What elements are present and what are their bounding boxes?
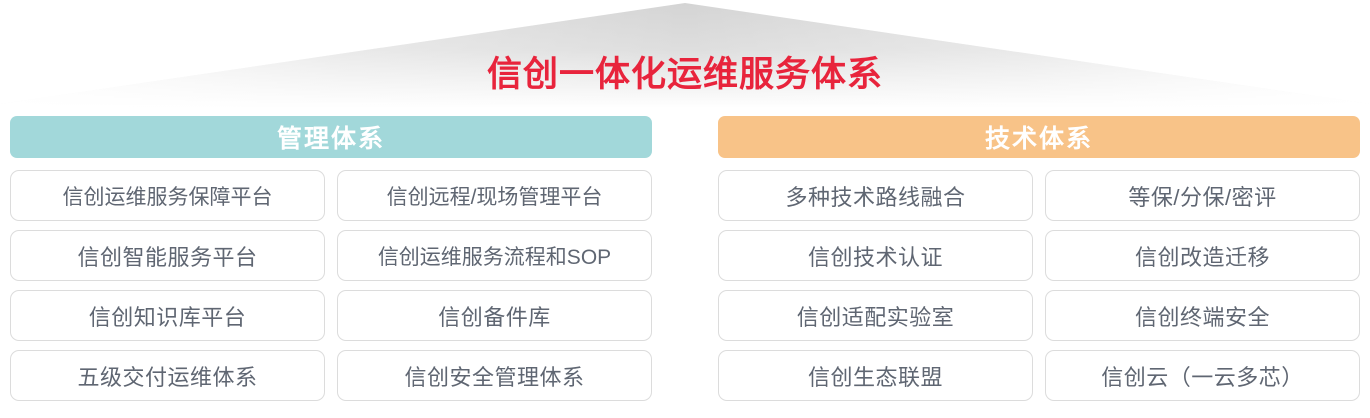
panel-technology: 技术体系 多种技术路线融合 等保/分保/密评 信创技术认证 信创改造迁移 信创适… [718,116,1360,418]
systems-panels: 管理体系 信创运维服务保障平台 信创远程/现场管理平台 信创智能服务平台 信创运… [0,116,1370,418]
page-title: 信创一体化运维服务体系 [0,54,1370,96]
list-item[interactable]: 信创云（一云多芯） [1045,350,1360,401]
list-item[interactable]: 信创改造迁移 [1045,230,1360,281]
list-item[interactable]: 信创安全管理体系 [337,350,652,401]
list-item[interactable]: 五级交付运维体系 [10,350,325,401]
panel-technology-grid: 多种技术路线融合 等保/分保/密评 信创技术认证 信创改造迁移 信创适配实验室 … [718,170,1360,401]
panel-technology-header: 技术体系 [718,116,1360,158]
list-item[interactable]: 信创生态联盟 [718,350,1033,401]
list-item[interactable]: 等保/分保/密评 [1045,170,1360,221]
list-item[interactable]: 信创知识库平台 [10,290,325,341]
list-item[interactable]: 信创备件库 [337,290,652,341]
list-item[interactable]: 信创远程/现场管理平台 [337,170,652,221]
list-item[interactable]: 信创运维服务保障平台 [10,170,325,221]
list-item[interactable]: 信创运维服务流程和SOP [337,230,652,281]
list-item[interactable]: 信创适配实验室 [718,290,1033,341]
list-item[interactable]: 信创终端安全 [1045,290,1360,341]
list-item[interactable]: 多种技术路线融合 [718,170,1033,221]
panel-management: 管理体系 信创运维服务保障平台 信创远程/现场管理平台 信创智能服务平台 信创运… [10,116,652,418]
list-item[interactable]: 信创智能服务平台 [10,230,325,281]
panel-management-grid: 信创运维服务保障平台 信创远程/现场管理平台 信创智能服务平台 信创运维服务流程… [10,170,652,401]
list-item[interactable]: 信创技术认证 [718,230,1033,281]
panel-management-header: 管理体系 [10,116,652,158]
